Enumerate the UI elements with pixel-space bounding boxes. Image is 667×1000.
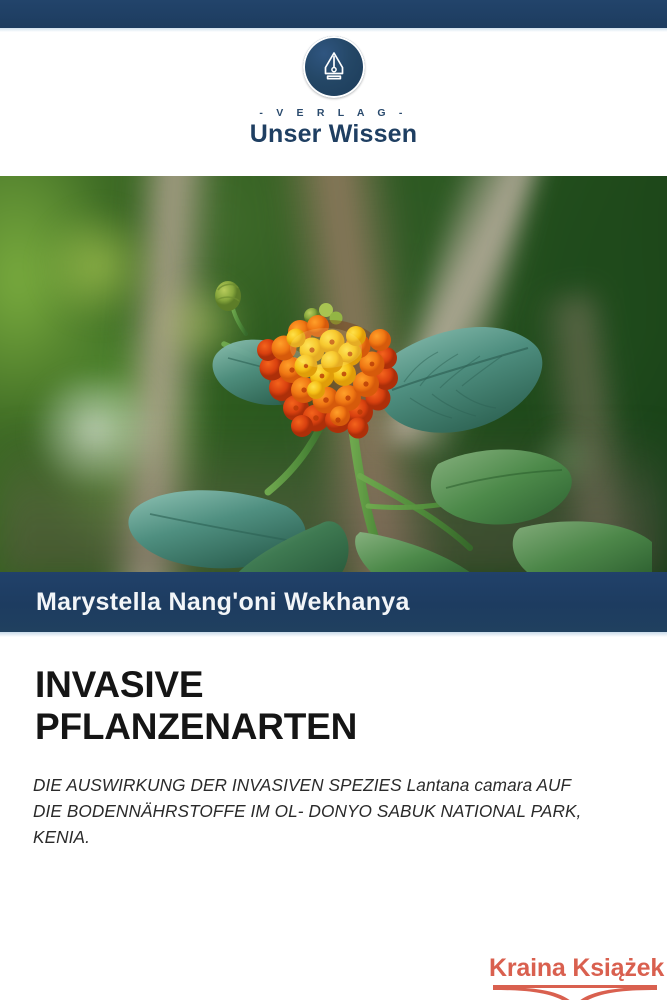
title-line-2: PFLANZENARTEN	[35, 706, 635, 748]
pen-nib-icon	[303, 36, 365, 98]
shop-watermark-label: Kraina Książek	[489, 954, 661, 983]
publisher-eyebrow: - V E R L A G -	[259, 107, 407, 119]
cover-photo	[0, 176, 667, 572]
lantana-flower-head	[257, 315, 398, 439]
subtitle: DIE AUSWIRKUNG DER INVASIVEN SPEZIES Lan…	[33, 772, 603, 850]
book-cover: - V E R L A G - Unser Wissen	[0, 0, 667, 1000]
top-accent-bar-shadow	[0, 28, 667, 32]
page-title: INVASIVE PFLANZENARTEN	[35, 664, 635, 748]
author-band: Marystella Nang'oni Wekhanya	[0, 572, 667, 632]
title-line-1: INVASIVE	[35, 664, 635, 706]
open-book-icon	[493, 987, 657, 1000]
lantana-plant-graphic	[0, 176, 667, 572]
flower-bud	[215, 281, 241, 311]
publisher-name: Unser Wissen	[250, 120, 418, 149]
publisher-logo-block: - V E R L A G - Unser Wissen	[0, 36, 667, 166]
author-band-underline	[0, 632, 667, 637]
author-name: Marystella Nang'oni Wekhanya	[36, 588, 410, 617]
shop-watermark: Kraina Książek	[489, 954, 661, 998]
top-accent-bar	[0, 0, 667, 28]
